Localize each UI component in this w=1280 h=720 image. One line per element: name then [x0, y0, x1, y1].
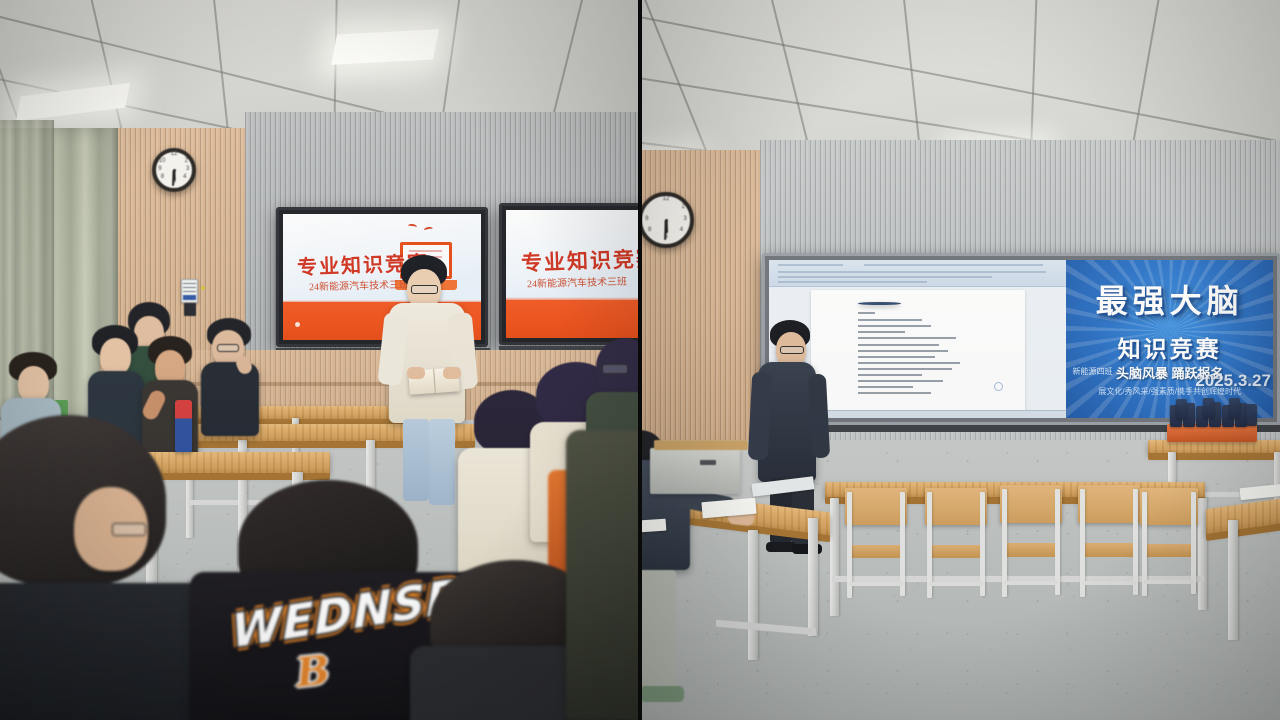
slide-professional-knowledge-2: 专业知识竞赛 24新能源汽车技术三班	[506, 210, 640, 338]
photo-collage: 12 2 3 4 6 8 9 10	[0, 0, 1280, 720]
slide-subtitle: 24新能源汽车技术三班	[527, 273, 627, 291]
classroom-chair	[1140, 488, 1198, 596]
classroom-chair	[1078, 485, 1140, 597]
stored-phone	[1203, 398, 1214, 418]
slide-title: 专业知识竞赛	[521, 242, 640, 277]
poster-subtitle: 知识竞赛	[1066, 330, 1273, 364]
classroom-chair	[925, 488, 987, 598]
wall-clock: 12 2 3 4 6 8 9	[640, 192, 694, 248]
stored-phone	[1246, 404, 1257, 426]
jacket-graffiti-badge: B	[294, 646, 333, 696]
lectern-cabinet	[650, 448, 740, 494]
ceiling-light-panel	[331, 29, 439, 65]
poster-class-label: 新能源四班	[1073, 366, 1113, 377]
panel-divider	[638, 0, 642, 720]
classroom-chair	[845, 488, 907, 598]
slide-competition-poster: 最强大脑 知识竞赛 新能源四班 头脑风暴 踊跃报名 2025.3.27 展文化/…	[1066, 260, 1273, 418]
wall-control-panel[interactable]	[181, 279, 198, 303]
glasses-icon	[411, 285, 438, 294]
display-screen-left-2[interactable]: 专业知识竞赛 24新能源汽车技术三班	[499, 203, 640, 345]
slide-subtitle: 24新能源汽车技术三班	[309, 276, 409, 294]
poster-title: 最强大脑	[1066, 276, 1273, 322]
wall-clock: 12 2 3 4 6 8 9 10	[152, 148, 196, 192]
right-classroom-scene: 12 2 3 4 6 8 9	[640, 0, 1280, 720]
glasses-icon	[780, 346, 804, 354]
left-classroom-scene: 12 2 3 4 6 8 9 10	[0, 0, 640, 720]
stored-phone	[1176, 399, 1187, 419]
stored-phone	[1229, 398, 1240, 418]
classroom-chair	[1000, 485, 1062, 597]
wall-sensor-box	[184, 303, 196, 316]
poster-motto: 展文化/秀风采/强素质/携手共创辉煌时代	[1066, 386, 1273, 397]
ceiling-light-panel	[16, 83, 130, 121]
thermos-bottle	[175, 400, 192, 452]
